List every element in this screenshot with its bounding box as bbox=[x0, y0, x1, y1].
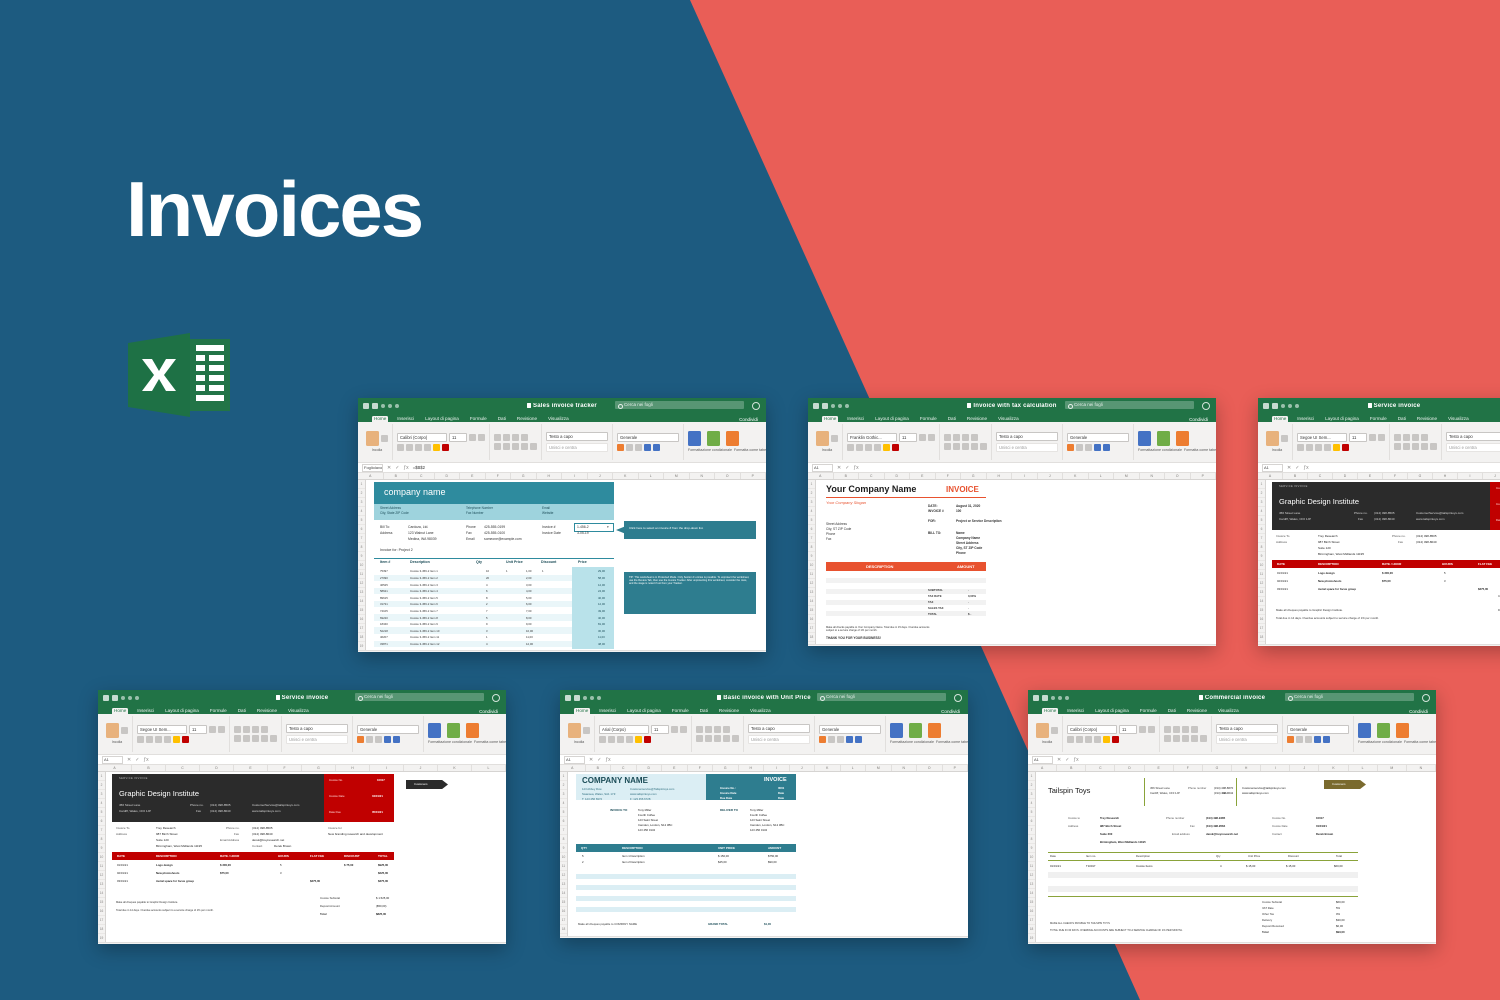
align-middle-icon[interactable] bbox=[1173, 726, 1180, 733]
align-bottom-icon[interactable] bbox=[1182, 726, 1189, 733]
bold-icon[interactable] bbox=[397, 444, 404, 451]
number-format-select[interactable]: Generale bbox=[819, 725, 881, 734]
group-wrap[interactable]: Testo a capo Unisci e centra bbox=[992, 424, 1063, 460]
group-styles[interactable]: Formattazione condizionale Formatta come… bbox=[1354, 716, 1436, 752]
underline-icon[interactable] bbox=[415, 444, 422, 451]
wrap-text-button[interactable]: Testo a capo bbox=[748, 724, 810, 733]
indent-increase-icon[interactable] bbox=[270, 735, 277, 742]
bold-icon[interactable] bbox=[847, 444, 854, 451]
align-right-icon[interactable] bbox=[1182, 735, 1189, 742]
group-clipboard[interactable]: Incolla bbox=[564, 716, 595, 752]
align-top-icon[interactable] bbox=[696, 726, 703, 733]
font-size-box[interactable]: 11 bbox=[1119, 725, 1137, 734]
increase-font-icon[interactable] bbox=[919, 434, 926, 441]
indent-decrease-icon[interactable] bbox=[261, 735, 268, 742]
align-top-icon[interactable] bbox=[234, 726, 241, 733]
group-number[interactable]: Generale bbox=[613, 424, 684, 460]
align-center-icon[interactable] bbox=[705, 735, 712, 742]
cut-icon[interactable] bbox=[583, 727, 590, 734]
worksheet-grid[interactable]: 1234567891011121314151617181920 SERVICE … bbox=[1258, 480, 1500, 644]
group-clipboard[interactable]: Incolla bbox=[1032, 716, 1063, 752]
italic-icon[interactable] bbox=[406, 444, 413, 451]
row-headers[interactable]: 1234567891011121314151617181920 bbox=[1028, 772, 1036, 942]
cell-styles-icon[interactable] bbox=[928, 723, 941, 738]
align-top-icon[interactable] bbox=[1164, 726, 1171, 733]
account-icon[interactable] bbox=[752, 402, 760, 410]
font-color-icon[interactable] bbox=[644, 736, 651, 743]
increase-font-icon[interactable] bbox=[209, 726, 216, 733]
percent-icon[interactable] bbox=[828, 736, 835, 743]
merge-center-button[interactable]: Unisci e centra bbox=[996, 443, 1058, 452]
worksheet-grid[interactable]: 1234567891011121314151617181920 Your Com… bbox=[808, 480, 1216, 644]
sheet-tabs[interactable]: Invoice+ bbox=[560, 936, 968, 938]
indent-decrease-icon[interactable] bbox=[1191, 735, 1198, 742]
name-box[interactable]: A1 bbox=[102, 756, 123, 764]
font-color-icon[interactable] bbox=[442, 444, 449, 451]
merge-center-button[interactable]: Unisci e centra bbox=[286, 735, 348, 744]
paste-icon[interactable] bbox=[1266, 431, 1279, 446]
number-format-select[interactable]: Generale bbox=[1287, 725, 1349, 734]
indent-increase-icon[interactable] bbox=[1430, 443, 1437, 450]
fill-color-icon[interactable] bbox=[1103, 736, 1110, 743]
currency-icon[interactable] bbox=[617, 444, 624, 451]
group-styles[interactable]: Formattazione condizionale Formatta come… bbox=[1134, 424, 1216, 460]
window-service-invoice-right[interactable]: Service invoice Home Inserisci Layout di… bbox=[1258, 398, 1500, 646]
align-middle-icon[interactable] bbox=[1403, 434, 1410, 441]
invoice-document[interactable]: company name Street Address City, State … bbox=[366, 480, 766, 650]
group-clipboard[interactable]: Incolla bbox=[362, 424, 393, 460]
indent-decrease-icon[interactable] bbox=[1421, 443, 1428, 450]
account-icon[interactable] bbox=[954, 694, 962, 702]
group-font[interactable]: Arial (Corpo) 11 bbox=[595, 716, 692, 752]
cancel-icon[interactable]: ✕ bbox=[589, 757, 593, 763]
group-number[interactable]: Generale bbox=[353, 716, 424, 752]
cancel-icon[interactable]: ✕ bbox=[127, 757, 131, 763]
decrease-font-icon[interactable] bbox=[1148, 726, 1155, 733]
group-wrap[interactable]: Testo a capo Unisci e centra bbox=[1212, 716, 1283, 752]
align-bottom-icon[interactable] bbox=[714, 726, 721, 733]
window-invoice-with-tax-calculation[interactable]: Invoice with tax calculation Cerca nei f… bbox=[808, 398, 1216, 646]
fill-color-icon[interactable] bbox=[635, 736, 642, 743]
ribbon[interactable]: Incolla Segoe UI Sem... 11 bbox=[98, 714, 506, 755]
align-right-icon[interactable] bbox=[714, 735, 721, 742]
indent-increase-icon[interactable] bbox=[732, 735, 739, 742]
row-headers[interactable]: 1234567891011121314151617181920 bbox=[560, 772, 568, 936]
column-headers[interactable]: ABCDEFGHIJKLMNOP bbox=[560, 765, 968, 772]
borders-icon[interactable] bbox=[626, 736, 633, 743]
decrease-decimal-icon[interactable] bbox=[653, 444, 660, 451]
worksheet-grid[interactable]: 1234567891011121314151617181920 company … bbox=[358, 480, 766, 650]
font-size-box[interactable]: 11 bbox=[899, 433, 917, 442]
align-left-icon[interactable] bbox=[494, 443, 501, 450]
window-commercial-invoice[interactable]: Commercial invoice Cerca nei fogli Home … bbox=[1028, 690, 1436, 944]
cut-icon[interactable] bbox=[121, 727, 128, 734]
font-color-icon[interactable] bbox=[1112, 736, 1119, 743]
increase-font-icon[interactable] bbox=[1139, 726, 1146, 733]
format-as-table-icon[interactable] bbox=[447, 723, 460, 738]
merge-center-button[interactable]: Unisci e centra bbox=[1446, 443, 1500, 452]
search-box[interactable]: Cerca nei fogli bbox=[355, 693, 484, 701]
align-right-icon[interactable] bbox=[1412, 443, 1419, 450]
align-right-icon[interactable] bbox=[512, 443, 519, 450]
group-alignment[interactable] bbox=[230, 716, 282, 752]
borders-icon[interactable] bbox=[164, 736, 171, 743]
currency-icon[interactable] bbox=[357, 736, 364, 743]
formula-bar[interactable]: A1 ✕ ✓ ƒx bbox=[808, 463, 1216, 473]
decrease-font-icon[interactable] bbox=[478, 434, 485, 441]
window-sales-invoice-tracker[interactable]: Sales invoice tracker Cerca nei fogli Ho… bbox=[358, 398, 766, 652]
paste-icon[interactable] bbox=[568, 723, 581, 738]
merge-center-button[interactable]: Unisci e centra bbox=[1216, 735, 1278, 744]
increase-decimal-icon[interactable] bbox=[1314, 736, 1321, 743]
fill-color-icon[interactable] bbox=[883, 444, 890, 451]
window-basic-invoice-unit-price[interactable]: Basic invoice with Unit Price Cerca nei … bbox=[560, 690, 968, 938]
row-headers[interactable]: 1234567891011121314151617181920 bbox=[98, 772, 106, 942]
comma-icon[interactable] bbox=[375, 736, 382, 743]
group-wrap[interactable]: Testo a capo Unisci e centra bbox=[1442, 424, 1500, 460]
italic-icon[interactable] bbox=[608, 736, 615, 743]
group-clipboard[interactable]: Incolla bbox=[812, 424, 843, 460]
orientation-icon[interactable] bbox=[971, 434, 978, 441]
ribbon-tabs[interactable]: Home Inserisci Layout di pagina Formule … bbox=[358, 413, 766, 422]
italic-icon[interactable] bbox=[1076, 736, 1083, 743]
cell-styles-icon[interactable] bbox=[726, 431, 739, 446]
increase-decimal-icon[interactable] bbox=[846, 736, 853, 743]
conditional-formatting-icon[interactable] bbox=[688, 431, 701, 446]
ribbon[interactable]: Incolla Franklin Gothic... 11 bbox=[808, 422, 1216, 463]
formula-input[interactable]: =$B$2 bbox=[413, 465, 425, 470]
group-wrap[interactable]: Testo a capo Unisci e centra bbox=[542, 424, 613, 460]
search-box[interactable]: Cerca nei fogli bbox=[817, 693, 946, 701]
bold-icon[interactable] bbox=[137, 736, 144, 743]
invoice-document[interactable]: SERVICE INVOICE Graphic Design Institute… bbox=[106, 772, 506, 942]
ribbon-tabs[interactable]: Home Inserisci Layout di pagina Formule … bbox=[1258, 413, 1500, 422]
currency-icon[interactable] bbox=[1067, 444, 1074, 451]
ribbon-tabs[interactable]: Home Inserisci Layout di pagina Formule … bbox=[808, 413, 1216, 422]
increase-font-icon[interactable] bbox=[469, 434, 476, 441]
cut-icon[interactable] bbox=[831, 435, 838, 442]
wrap-text-button[interactable]: Testo a capo bbox=[996, 432, 1058, 441]
cell-styles-icon[interactable] bbox=[1176, 431, 1189, 446]
wrap-text-button[interactable]: Testo a capo bbox=[1446, 432, 1500, 441]
align-left-icon[interactable] bbox=[234, 735, 241, 742]
row-headers[interactable]: 1234567891011121314151617181920 bbox=[808, 480, 816, 644]
sheet-tabs[interactable]: Service invoiceCustomers+ bbox=[98, 942, 506, 944]
align-left-icon[interactable] bbox=[1164, 735, 1171, 742]
group-styles[interactable]: Formattazione condizionale Formatta come… bbox=[424, 716, 506, 752]
comma-icon[interactable] bbox=[1085, 444, 1092, 451]
name-box[interactable]: A1 bbox=[564, 756, 585, 764]
bold-icon[interactable] bbox=[1067, 736, 1074, 743]
worksheet-grid[interactable]: 1234567891011121314151617181920 SERVICE … bbox=[98, 772, 506, 942]
group-wrap[interactable]: Testo a capo Unisci e centra bbox=[744, 716, 815, 752]
column-headers[interactable]: ABCDEFGHIJKLMNOP bbox=[808, 473, 1216, 480]
conditional-formatting-icon[interactable] bbox=[890, 723, 903, 738]
indent-increase-icon[interactable] bbox=[1200, 735, 1207, 742]
ribbon[interactable]: Incolla Arial (Corpo) 11 bbox=[560, 714, 968, 755]
column-headers[interactable]: ABCDEFGHIJKL bbox=[98, 765, 506, 772]
confirm-icon[interactable]: ✓ bbox=[597, 757, 601, 763]
name-box[interactable]: A1 bbox=[1032, 756, 1053, 764]
conditional-formatting-icon[interactable] bbox=[1358, 723, 1371, 738]
font-size-box[interactable]: 11 bbox=[651, 725, 669, 734]
sheet-tabs[interactable]: Service invoiceCustomers+ bbox=[1258, 644, 1500, 646]
group-font[interactable]: Segoe UI Sem... 11 bbox=[1293, 424, 1390, 460]
cut-icon[interactable] bbox=[1051, 727, 1058, 734]
cut-icon[interactable] bbox=[381, 435, 388, 442]
cell-styles-icon[interactable] bbox=[466, 723, 479, 738]
worksheet-grid[interactable]: 1234567891011121314151617181920 COMPANY … bbox=[560, 772, 968, 936]
align-top-icon[interactable] bbox=[494, 434, 501, 441]
group-alignment[interactable] bbox=[490, 424, 542, 460]
align-center-icon[interactable] bbox=[953, 443, 960, 450]
currency-icon[interactable] bbox=[1287, 736, 1294, 743]
paste-icon[interactable] bbox=[106, 723, 119, 738]
align-left-icon[interactable] bbox=[944, 443, 951, 450]
decrease-decimal-icon[interactable] bbox=[1103, 444, 1110, 451]
orientation-icon[interactable] bbox=[1191, 726, 1198, 733]
align-middle-icon[interactable] bbox=[503, 434, 510, 441]
decrease-decimal-icon[interactable] bbox=[855, 736, 862, 743]
invoice-document[interactable]: Tailspin Toys 456 Street Lane Cardiff, W… bbox=[1036, 772, 1436, 942]
paste-icon[interactable] bbox=[1036, 723, 1049, 738]
align-bottom-icon[interactable] bbox=[252, 726, 259, 733]
group-font[interactable]: Franklin Gothic... 11 bbox=[843, 424, 940, 460]
column-headers[interactable]: ABCDEFGHIJKLMNOP bbox=[358, 473, 766, 480]
align-center-icon[interactable] bbox=[243, 735, 250, 742]
cancel-icon[interactable]: ✕ bbox=[1287, 465, 1291, 471]
indent-decrease-icon[interactable] bbox=[521, 443, 528, 450]
align-right-icon[interactable] bbox=[962, 443, 969, 450]
account-icon[interactable] bbox=[492, 694, 500, 702]
indent-decrease-icon[interactable] bbox=[723, 735, 730, 742]
italic-icon[interactable] bbox=[1306, 444, 1313, 451]
font-name-box[interactable]: Franklin Gothic... bbox=[847, 433, 897, 442]
font-name-box[interactable]: Calibri (Corpo) bbox=[397, 433, 447, 442]
row-headers[interactable]: 1234567891011121314151617181920 bbox=[358, 480, 366, 650]
underline-icon[interactable] bbox=[155, 736, 162, 743]
decrease-decimal-icon[interactable] bbox=[393, 736, 400, 743]
font-name-box[interactable]: Calibri (Corpo) bbox=[1067, 725, 1117, 734]
number-format-select[interactable]: Generale bbox=[617, 433, 679, 442]
conditional-formatting-icon[interactable] bbox=[428, 723, 441, 738]
align-middle-icon[interactable] bbox=[243, 726, 250, 733]
invoice-document[interactable]: SERVICE INVOICE Graphic Design Institute… bbox=[1266, 480, 1500, 644]
font-size-box[interactable]: 11 bbox=[189, 725, 207, 734]
column-headers[interactable]: ABCDEFGHIJKL bbox=[1258, 473, 1500, 480]
align-top-icon[interactable] bbox=[944, 434, 951, 441]
column-headers[interactable]: ABCDEFGHIJKLMN bbox=[1028, 765, 1436, 772]
align-top-icon[interactable] bbox=[1394, 434, 1401, 441]
comma-icon[interactable] bbox=[635, 444, 642, 451]
increase-decimal-icon[interactable] bbox=[1094, 444, 1101, 451]
ribbon[interactable]: Incolla Calibri (Corpo) 11 bbox=[358, 422, 766, 463]
search-box[interactable]: Cerca nei fogli bbox=[1285, 693, 1414, 701]
percent-icon[interactable] bbox=[1076, 444, 1083, 451]
chevron-down-icon[interactable]: ▾ bbox=[607, 525, 609, 529]
percent-icon[interactable] bbox=[366, 736, 373, 743]
confirm-icon[interactable]: ✓ bbox=[395, 465, 399, 471]
format-as-table-icon[interactable] bbox=[707, 431, 720, 446]
group-alignment[interactable] bbox=[940, 424, 992, 460]
formula-bar[interactable]: A1 ✕ ✓ ƒx bbox=[1028, 755, 1436, 765]
fill-color-icon[interactable] bbox=[173, 736, 180, 743]
underline-icon[interactable] bbox=[617, 736, 624, 743]
increase-font-icon[interactable] bbox=[1369, 434, 1376, 441]
decrease-decimal-icon[interactable] bbox=[1323, 736, 1330, 743]
search-box[interactable]: Cerca nei fogli bbox=[1065, 401, 1194, 409]
align-bottom-icon[interactable] bbox=[962, 434, 969, 441]
increase-decimal-icon[interactable] bbox=[644, 444, 651, 451]
ribbon[interactable]: Incolla Calibri (Corpo) 11 bbox=[1028, 714, 1436, 755]
group-alignment[interactable] bbox=[1390, 424, 1442, 460]
font-color-icon[interactable] bbox=[892, 444, 899, 451]
font-size-box[interactable]: 11 bbox=[449, 433, 467, 442]
formula-bar[interactable]: A1 ✕ ✓ ƒx bbox=[98, 755, 506, 765]
group-alignment[interactable] bbox=[1160, 716, 1212, 752]
comma-icon[interactable] bbox=[837, 736, 844, 743]
font-name-box[interactable]: Segoe UI Sem... bbox=[137, 725, 187, 734]
paste-icon[interactable] bbox=[816, 431, 829, 446]
group-number[interactable]: Generale bbox=[815, 716, 886, 752]
decrease-font-icon[interactable] bbox=[1378, 434, 1385, 441]
group-clipboard[interactable]: Incolla bbox=[1262, 424, 1293, 460]
name-box[interactable]: A1 bbox=[812, 464, 833, 472]
indent-increase-icon[interactable] bbox=[530, 443, 537, 450]
account-icon[interactable] bbox=[1202, 402, 1210, 410]
underline-icon[interactable] bbox=[1085, 736, 1092, 743]
underline-icon[interactable] bbox=[865, 444, 872, 451]
sheet-tabs[interactable]: Commercial invoiceCustomers+ bbox=[1028, 942, 1436, 944]
font-color-icon[interactable] bbox=[182, 736, 189, 743]
orientation-icon[interactable] bbox=[521, 434, 528, 441]
group-alignment[interactable] bbox=[692, 716, 744, 752]
orientation-icon[interactable] bbox=[1421, 434, 1428, 441]
wrap-text-button[interactable]: Testo a capo bbox=[286, 724, 348, 733]
format-as-table-icon[interactable] bbox=[1377, 723, 1390, 738]
orientation-icon[interactable] bbox=[261, 726, 268, 733]
ribbon[interactable]: Incolla Segoe UI Sem... 11 bbox=[1258, 422, 1500, 463]
group-number[interactable]: Generale bbox=[1063, 424, 1134, 460]
borders-icon[interactable] bbox=[1324, 444, 1331, 451]
group-styles[interactable]: Formattazione condizionale Formatta come… bbox=[886, 716, 968, 752]
align-left-icon[interactable] bbox=[696, 735, 703, 742]
paste-icon[interactable] bbox=[366, 431, 379, 446]
fill-color-icon[interactable] bbox=[433, 444, 440, 451]
group-font[interactable]: Calibri (Corpo) 11 bbox=[393, 424, 490, 460]
underline-icon[interactable] bbox=[1315, 444, 1322, 451]
decrease-font-icon[interactable] bbox=[680, 726, 687, 733]
indent-decrease-icon[interactable] bbox=[971, 443, 978, 450]
confirm-icon[interactable]: ✓ bbox=[135, 757, 139, 763]
align-left-icon[interactable] bbox=[1394, 443, 1401, 450]
worksheet-grid[interactable]: 1234567891011121314151617181920 Tailspin… bbox=[1028, 772, 1436, 942]
bold-icon[interactable] bbox=[1297, 444, 1304, 451]
indent-increase-icon[interactable] bbox=[980, 443, 987, 450]
group-clipboard[interactable]: Incolla bbox=[102, 716, 133, 752]
sheet-tabs[interactable]: Invoice+ bbox=[808, 644, 1216, 646]
align-bottom-icon[interactable] bbox=[1412, 434, 1419, 441]
borders-icon[interactable] bbox=[424, 444, 431, 451]
name-box[interactable]: A1 bbox=[1262, 464, 1283, 472]
percent-icon[interactable] bbox=[626, 444, 633, 451]
font-name-box[interactable]: Arial (Corpo) bbox=[599, 725, 649, 734]
confirm-icon[interactable]: ✓ bbox=[1295, 465, 1299, 471]
invoice-document[interactable]: COMPANY NAME INVOICE 123 Abbey Row Swans… bbox=[568, 772, 968, 936]
group-wrap[interactable]: Testo a capo Unisci e centra bbox=[282, 716, 353, 752]
align-right-icon[interactable] bbox=[252, 735, 259, 742]
confirm-icon[interactable]: ✓ bbox=[1065, 757, 1069, 763]
increase-decimal-icon[interactable] bbox=[384, 736, 391, 743]
invoice-document[interactable]: Your Company Name INVOICE Your Company S… bbox=[816, 480, 1216, 644]
ribbon-tabs[interactable]: Home Inserisci Layout di pagina Formule … bbox=[98, 705, 506, 714]
borders-icon[interactable] bbox=[874, 444, 881, 451]
currency-icon[interactable] bbox=[819, 736, 826, 743]
formula-bar[interactable]: Fogliolavoro ✕ ✓ ƒx =$B$2 bbox=[358, 463, 766, 473]
increase-font-icon[interactable] bbox=[671, 726, 678, 733]
cancel-icon[interactable]: ✕ bbox=[1057, 757, 1061, 763]
italic-icon[interactable] bbox=[146, 736, 153, 743]
confirm-icon[interactable]: ✓ bbox=[845, 465, 849, 471]
ribbon-tabs[interactable]: Home Inserisci Layout di pagina Formule … bbox=[560, 705, 968, 714]
italic-icon[interactable] bbox=[856, 444, 863, 451]
ribbon-tabs[interactable]: Home Inserisci Layout di pagina Formule … bbox=[1028, 705, 1436, 714]
font-color-icon[interactable] bbox=[1342, 444, 1349, 451]
borders-icon[interactable] bbox=[1094, 736, 1101, 743]
cell-styles-icon[interactable] bbox=[1396, 723, 1409, 738]
conditional-formatting-icon[interactable] bbox=[1138, 431, 1151, 446]
decrease-font-icon[interactable] bbox=[928, 434, 935, 441]
align-center-icon[interactable] bbox=[503, 443, 510, 450]
percent-icon[interactable] bbox=[1296, 736, 1303, 743]
orientation-icon[interactable] bbox=[723, 726, 730, 733]
cancel-icon[interactable]: ✕ bbox=[837, 465, 841, 471]
account-icon[interactable] bbox=[1422, 694, 1430, 702]
format-as-table-icon[interactable] bbox=[909, 723, 922, 738]
cancel-icon[interactable]: ✕ bbox=[387, 465, 391, 471]
formula-bar[interactable]: A1 ✕ ✓ ƒx bbox=[560, 755, 968, 765]
sheet-tabs[interactable]: InvoicesCustomersInvoices - MainInvoice … bbox=[358, 650, 766, 652]
align-middle-icon[interactable] bbox=[953, 434, 960, 441]
cut-icon[interactable] bbox=[1281, 435, 1288, 442]
format-as-table-icon[interactable] bbox=[1157, 431, 1170, 446]
align-center-icon[interactable] bbox=[1403, 443, 1410, 450]
bold-icon[interactable] bbox=[599, 736, 606, 743]
row-headers[interactable]: 1234567891011121314151617181920 bbox=[1258, 480, 1266, 644]
group-font[interactable]: Segoe UI Sem... 11 bbox=[133, 716, 230, 752]
number-format-select[interactable]: Generale bbox=[357, 725, 419, 734]
font-name-box[interactable]: Segoe UI Sem... bbox=[1297, 433, 1347, 442]
group-number[interactable]: Generale bbox=[1283, 716, 1354, 752]
align-middle-icon[interactable] bbox=[705, 726, 712, 733]
align-center-icon[interactable] bbox=[1173, 735, 1180, 742]
align-bottom-icon[interactable] bbox=[512, 434, 519, 441]
fill-color-icon[interactable] bbox=[1333, 444, 1340, 451]
wrap-text-button[interactable]: Testo a capo bbox=[546, 432, 608, 441]
group-font[interactable]: Calibri (Corpo) 11 bbox=[1063, 716, 1160, 752]
window-service-invoice-left[interactable]: Service invoice Cerca nei fogli Home Ins… bbox=[98, 690, 506, 944]
merge-center-button[interactable]: Unisci e centra bbox=[748, 735, 810, 744]
name-box[interactable]: Fogliolavoro bbox=[362, 464, 383, 472]
font-size-box[interactable]: 11 bbox=[1349, 433, 1367, 442]
wrap-text-button[interactable]: Testo a capo bbox=[1216, 724, 1278, 733]
decrease-font-icon[interactable] bbox=[218, 726, 225, 733]
search-box[interactable]: Cerca nei fogli bbox=[615, 401, 744, 409]
merge-center-button[interactable]: Unisci e centra bbox=[546, 443, 608, 452]
group-styles[interactable]: Formattazione condizionale Formatta come… bbox=[684, 424, 766, 460]
formula-bar[interactable]: A1 ✕ ✓ ƒx bbox=[1258, 463, 1500, 473]
comma-icon[interactable] bbox=[1305, 736, 1312, 743]
